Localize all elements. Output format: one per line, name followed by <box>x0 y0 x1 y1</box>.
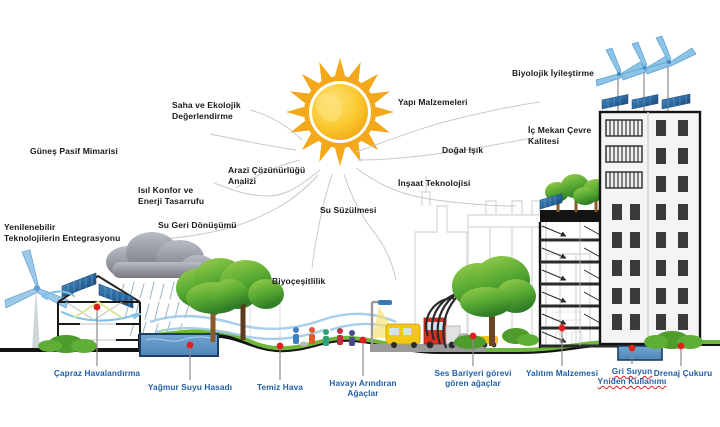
red-marker-dot-icon-marker-gri-su <box>629 345 636 352</box>
red-marker-dot-icon-marker-yalitim-malzemesi <box>559 325 566 332</box>
shrub-icon <box>502 328 539 346</box>
label-drenaj-cukuru: Drenaj Çukuru <box>646 368 720 378</box>
apartment-tower <box>596 36 703 349</box>
label-temiz-hava: Temiz Hava <box>241 382 319 392</box>
label-biyocesitlilik: Biyoçeşitlilik <box>272 276 325 287</box>
label-su-geri-donusumu: Su Geri Dönüşümü <box>158 220 237 231</box>
label-arazi-cozunurlugu-analizi: Arazi Çözünürlüğü Analizi <box>228 165 305 186</box>
bus-icon <box>386 324 420 348</box>
red-marker-dot-icon-marker-temiz-hava <box>277 343 284 350</box>
label-yapi-malzemeleri: Yapı Malzemeleri <box>398 97 468 108</box>
label-yenilenebilir-teknolojilerin-entegrasyonu: Yenilenebilir Teknolojilerin Entegrasyon… <box>4 222 120 243</box>
label-dogal-isik: Doğal Işık <box>442 145 483 156</box>
red-marker-dot-icon-marker-havayi-arindiran-agaclar <box>360 337 367 344</box>
red-marker-dot-icon-marker-yagmur-suyu-hasadi <box>187 342 194 349</box>
label-saha-ve-ekolojik-degerlendirme: Saha ve Ekolojik Değerlendirme <box>172 100 241 121</box>
label-insaat-teknolojisi: İnşaat Teknolojisi <box>398 178 471 189</box>
red-marker-dot-icon-marker-ses-bariyeri <box>470 333 477 340</box>
solar-panel-icon <box>602 94 690 109</box>
infographic-canvas: Güneş Pasif MimarisiSaha ve Ekolojik Değ… <box>0 0 720 427</box>
shrub-icon <box>38 335 97 353</box>
sun-icon <box>286 58 394 166</box>
label-capraz-havalandirma: Çapraz Havalandırma <box>42 368 152 378</box>
label-isil-konfor-ve-enerji-tasarrufu: Isıl Konfor ve Enerji Tasarrufu <box>138 185 204 206</box>
label-gunes-pasif-mimarisi: Güneş Pasif Mimarisi <box>30 146 118 157</box>
label-ic-mekan-cevre-kalitesi: İç Mekan Çevre Kalitesi <box>528 125 591 146</box>
label-su-suzulmesi: Su Süzülmesi <box>320 205 376 216</box>
label-yagmur-suyu-hasadi: Yağmur Suyu Hasadı <box>135 382 245 392</box>
label-havayi-arindiran-agaclar: Havayı Arındıran Ağaçlar <box>318 378 408 398</box>
label-biyolojik-iyilestirme: Biyolojik İyileştirme <box>512 68 594 79</box>
water-tank-icon <box>140 334 218 356</box>
tower-balconies <box>606 120 642 188</box>
red-marker-dot-icon-marker-drenaj-cukuru <box>678 343 685 350</box>
red-marker-dot-icon-marker-capraz-havalandirma <box>94 304 101 311</box>
label-ses-bariyeri-goren-agaclar: Ses Bariyeri görevi gören ağaçlar <box>420 368 526 388</box>
